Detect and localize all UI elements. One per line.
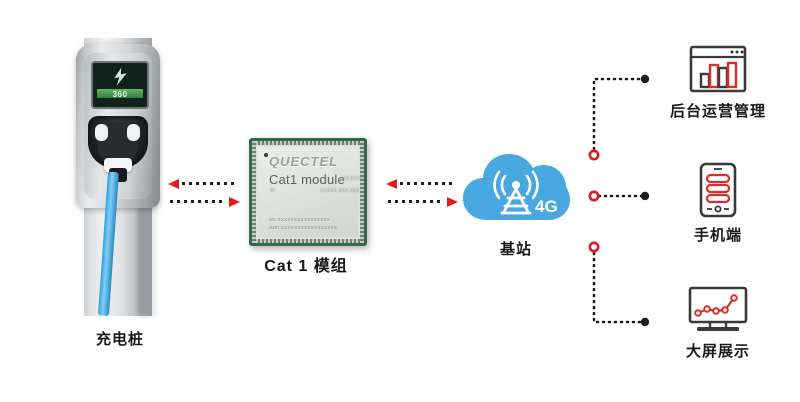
arrow-head-right-icon bbox=[447, 197, 458, 207]
link-module-cloud-uplink bbox=[386, 197, 458, 206]
module-brand: QUECTEL bbox=[269, 154, 338, 169]
endpoint-bigscreen-label: 大屏展示 bbox=[653, 340, 783, 361]
arrow-head-left-icon bbox=[386, 179, 397, 189]
module-serial-2: IMEI:XXXXXXXXXXXXXXXXX bbox=[269, 225, 337, 230]
base-station-graphic: 4G bbox=[461, 136, 571, 228]
lightning-bolt-icon bbox=[109, 67, 131, 87]
branch-end-nodes bbox=[641, 75, 649, 326]
dotted-line bbox=[400, 182, 456, 185]
dotted-line bbox=[388, 200, 444, 203]
monitor-line-chart-icon bbox=[687, 286, 749, 334]
node-mobile-source bbox=[590, 192, 598, 200]
node-bigscreen-end bbox=[641, 318, 649, 326]
module-serial-1: SN:XXXXXXXXXXXXXXXX bbox=[269, 217, 330, 222]
branch-to-bigscreen bbox=[594, 247, 643, 322]
dotted-line bbox=[182, 182, 238, 185]
branch-source-nodes bbox=[590, 151, 598, 251]
module-pins-top bbox=[252, 141, 364, 145]
network-tag-text: 4G bbox=[535, 197, 558, 216]
diagram-canvas: 360 充电桩 QUECTEL Cat1 module bbox=[0, 0, 800, 402]
link-module-cloud bbox=[386, 177, 458, 211]
cat1-module-graphic: QUECTEL Cat1 module EX.XXXX ID XXXXX.XXX… bbox=[249, 138, 367, 246]
module-id-label: ID bbox=[270, 188, 275, 194]
base-station-label: 基站 bbox=[466, 238, 566, 259]
endpoint-backend[interactable]: 后台运营管理 bbox=[653, 44, 783, 121]
charging-gun-handle-right bbox=[127, 124, 140, 141]
module-revision: EX.XXXX bbox=[342, 176, 363, 182]
endpoint-backend-label: 后台运营管理 bbox=[653, 100, 783, 121]
browser-bar-chart-icon bbox=[688, 44, 748, 94]
node-bigscreen-source bbox=[590, 243, 598, 251]
smartphone-icon bbox=[698, 162, 738, 218]
charging-pile-graphic: 360 bbox=[72, 38, 168, 316]
node-mobile-end bbox=[641, 192, 649, 200]
module-name: Cat1 module bbox=[269, 172, 345, 187]
module-pin1-dot bbox=[264, 153, 268, 157]
endpoint-mobile-label: 手机端 bbox=[653, 224, 783, 245]
link-pile-module-downlink bbox=[168, 179, 240, 188]
node-backend-source bbox=[590, 151, 598, 159]
module-pins-bottom bbox=[252, 239, 364, 243]
pile-screen-value: 360 bbox=[93, 90, 147, 99]
pile-screen: 360 bbox=[91, 61, 149, 109]
cat1-module-label: Cat 1 模组 bbox=[250, 252, 362, 276]
link-pile-module bbox=[168, 177, 240, 211]
cloud-tower-4g-icon: 4G bbox=[461, 136, 571, 228]
endpoint-mobile[interactable]: 手机端 bbox=[653, 162, 783, 245]
branch-to-backend bbox=[594, 79, 643, 155]
arrow-head-left-icon bbox=[168, 179, 179, 189]
endpoint-bigscreen[interactable]: 大屏展示 bbox=[653, 286, 783, 361]
module-id-value: XXXXX.XXX.XXX bbox=[320, 188, 359, 194]
node-backend-end bbox=[641, 75, 649, 83]
module-pins-left bbox=[252, 141, 256, 243]
dotted-line bbox=[170, 200, 226, 203]
charging-gun-handle-left bbox=[95, 124, 108, 141]
link-pile-module-uplink bbox=[168, 197, 240, 206]
charging-pile-label: 充电桩 bbox=[70, 328, 170, 349]
arrow-head-right-icon bbox=[229, 197, 240, 207]
module-pins-right bbox=[360, 141, 364, 243]
link-module-cloud-downlink bbox=[386, 179, 458, 188]
module-face: QUECTEL Cat1 module EX.XXXX ID XXXXX.XXX… bbox=[258, 147, 358, 237]
